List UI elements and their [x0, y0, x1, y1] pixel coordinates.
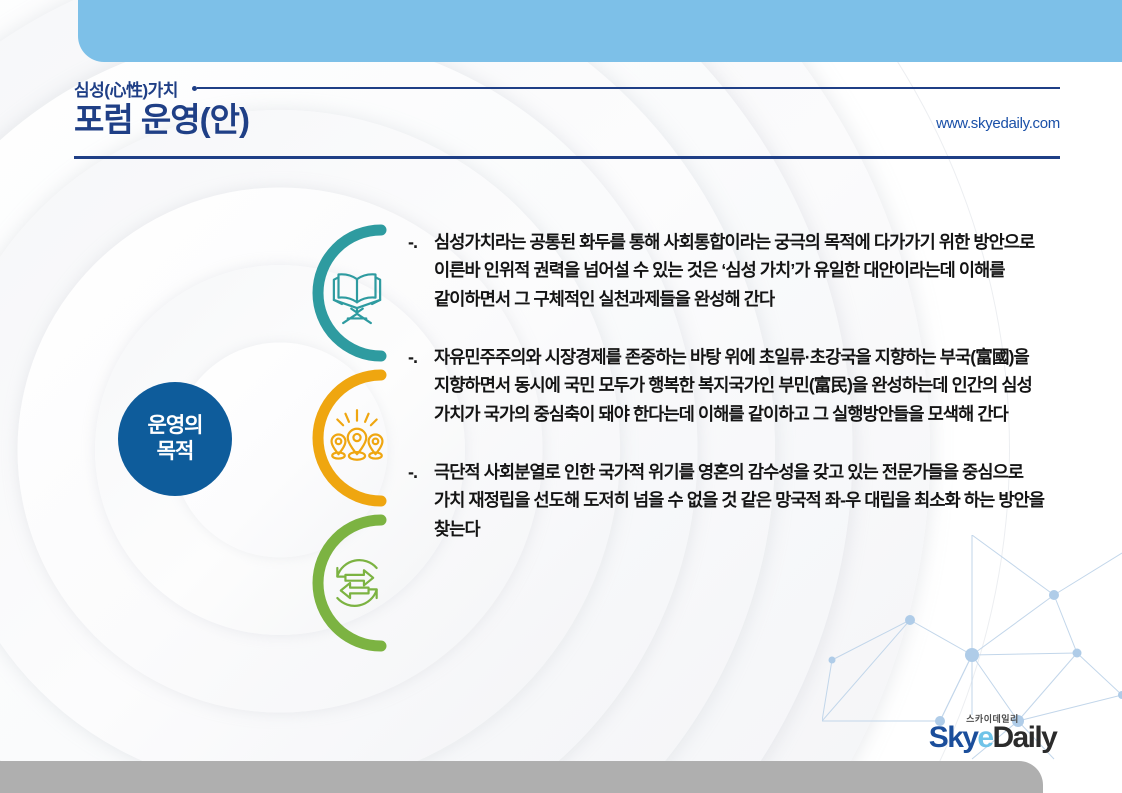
list-item: -. 심성가치라는 공통된 화두를 통해 사회통합이라는 궁극의 목적에 다가가… — [408, 228, 1056, 313]
site-url-label: www.skyedaily.com — [936, 115, 1060, 138]
bullet-marker: -. — [408, 228, 434, 257]
logo-part-daily: Daily — [992, 721, 1056, 754]
bottom-gray-bar — [0, 761, 1043, 793]
bullet-marker: -. — [408, 458, 434, 487]
title-row: 포럼 운영(안) www.skyedaily.com — [74, 102, 1060, 138]
logo-part-e: e — [977, 721, 992, 754]
hub-line-2: 목적 — [157, 439, 194, 465]
slide-canvas: 심성(心性)가치 포럼 운영(안) www.skyedaily.com 운영의 … — [0, 0, 1122, 793]
eyebrow-row: 심성(心性)가치 — [74, 76, 1060, 100]
bullet-marker: -. — [408, 343, 434, 372]
slide-header: 심성(心性)가치 포럼 운영(안) www.skyedaily.com — [74, 76, 1060, 162]
three-people-pins-icon — [320, 401, 394, 475]
hub-circle: 운영의 목적 — [118, 382, 232, 496]
top-blue-bar — [78, 0, 1122, 62]
open-book-on-stand-icon — [320, 256, 394, 330]
logo-part-sky: Sky — [929, 721, 978, 754]
arc-item-1 — [278, 218, 408, 368]
eyebrow-label: 심성(心性)가치 — [74, 76, 178, 101]
arc-item-2 — [278, 363, 408, 513]
arc-item-3 — [278, 508, 408, 658]
hub-line-1: 운영의 — [148, 413, 203, 439]
eyebrow-rule — [197, 87, 1060, 89]
list-item: -. 극단적 사회분열로 인한 국가적 위기를 영혼의 감수성을 갖고 있는 전… — [408, 458, 1056, 543]
paragraph-text: 극단적 사회분열로 인한 국가적 위기를 영혼의 감수성을 갖고 있는 전문가들… — [434, 458, 1056, 543]
skydaily-logo: 스카이데일리 SkyeDaily — [925, 712, 1060, 753]
circular-exchange-arrows-icon — [320, 546, 394, 620]
paragraph-text: 자유민주주의와 시장경제를 존중하는 바탕 위에 초일류·초강국을 지향하는 부… — [434, 343, 1056, 428]
logo-wordmark: SkyeDaily — [925, 723, 1060, 753]
page-title: 포럼 운영(안) — [74, 102, 249, 138]
paragraph-text: 심성가치라는 공통된 화두를 통해 사회통합이라는 궁극의 목적에 다가가기 위… — [434, 228, 1056, 313]
title-underline — [74, 156, 1060, 159]
arc-stack — [278, 218, 408, 658]
list-item: -. 자유민주주의와 시장경제를 존중하는 바탕 위에 초일류·초강국을 지향하… — [408, 343, 1056, 428]
content-list: -. 심성가치라는 공통된 화두를 통해 사회통합이라는 궁극의 목적에 다가가… — [408, 228, 1056, 571]
